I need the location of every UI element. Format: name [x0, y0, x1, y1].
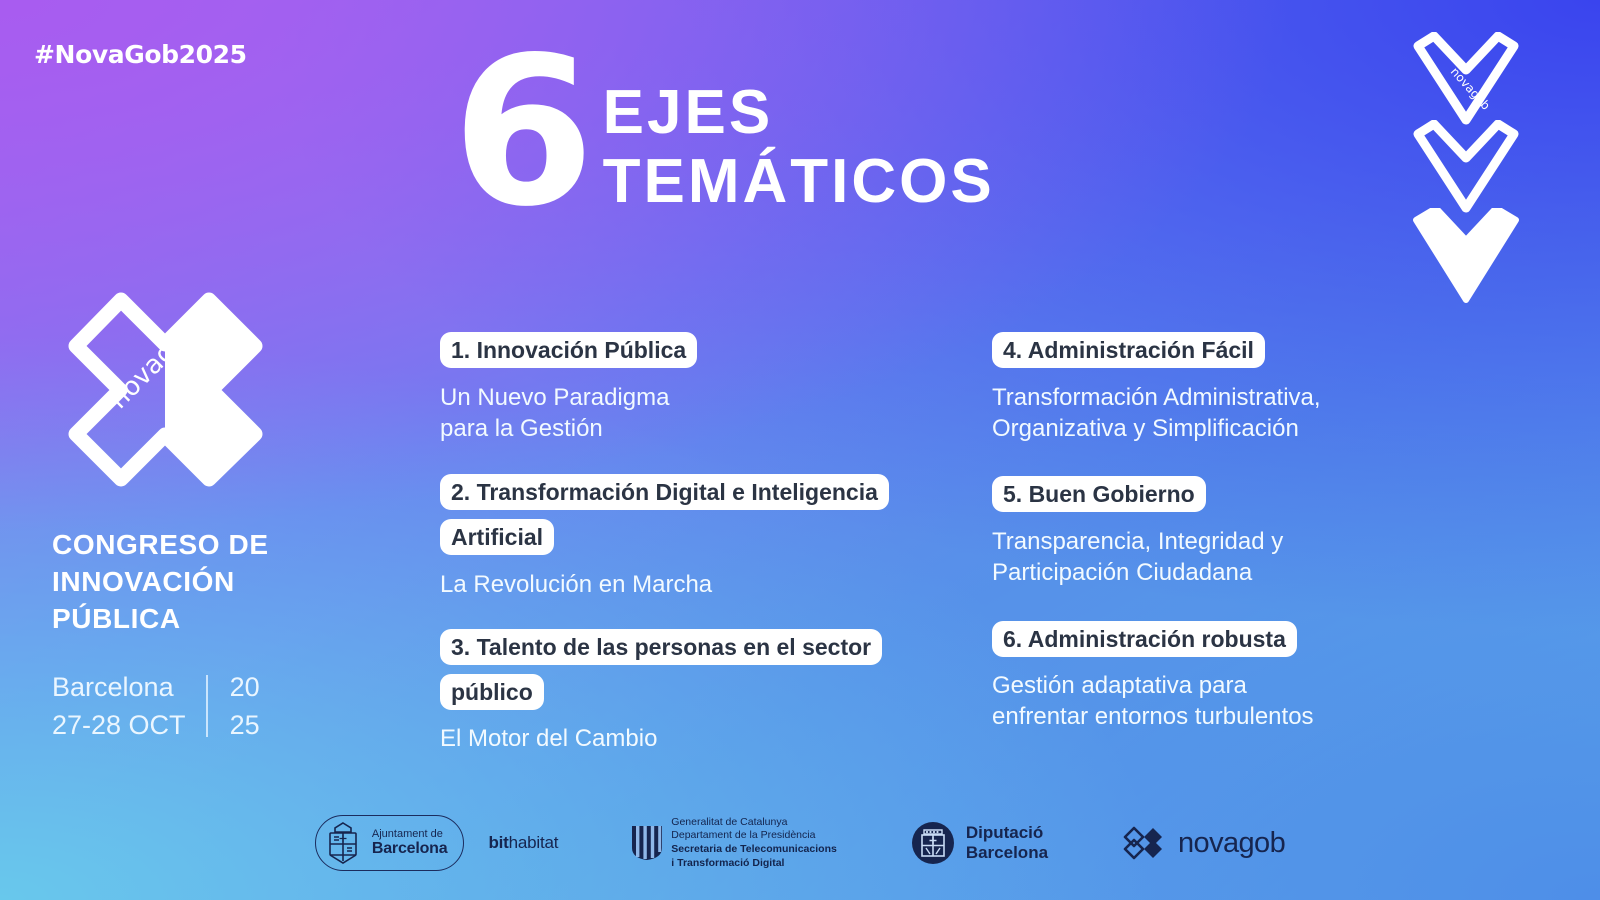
axis-title-5: 5. Buen Gobierno	[992, 476, 1206, 512]
axis-title-3: 3. Talento de las personas en el sector …	[440, 629, 882, 710]
axis-title-wrap-3: 3. Talento de las personas en el sector …	[440, 625, 910, 715]
congress-title-line-1: CONGRESO DE	[52, 527, 382, 564]
novagob-footer-wordmark: novagob	[1178, 827, 1285, 860]
logo-generalitat-catalunya: Generalitat de Catalunya Departament de …	[632, 816, 837, 871]
ajuntament-wordmark: Ajuntament de Barcelona	[372, 828, 448, 858]
event-year: 20 25	[230, 668, 260, 745]
event-location-dates: Barcelona 27-28 OCT	[52, 668, 186, 745]
axis-title-wrap-6: 6. Administración robusta	[992, 617, 1422, 662]
congress-title-line-2: INNOVACIÓN	[52, 564, 382, 601]
event-dates: 27-28 OCT	[52, 706, 186, 744]
novagob-mark-icon	[1122, 824, 1166, 862]
headline-words: EJES TEMÁTICOS	[603, 58, 995, 217]
axis-subtitle-3: El Motor del Cambio	[440, 724, 910, 755]
axis-subtitle-2: La Revolución en Marcha	[440, 570, 910, 601]
ajuntament-crest-icon	[324, 821, 362, 865]
axis-item-2: 2. Transformación Digital e Inteligencia…	[440, 470, 910, 600]
chevron-outline-with-label-icon: novagob	[1410, 32, 1530, 128]
thematic-axes-list: 1. Innovación Pública Un Nuevo Paradigma…	[440, 328, 1480, 781]
diputacio-wordmark: Diputació Barcelona	[966, 823, 1048, 862]
sponsor-logo-bar: Ajuntament de Barcelona bithabitat Gener…	[0, 808, 1600, 878]
bithabitat-bold-part: bit	[488, 833, 508, 852]
ajuntament-small-text: Ajuntament de	[372, 828, 443, 840]
axis-item-1: 1. Innovación Pública Un Nuevo Paradigma…	[440, 328, 910, 444]
axis-title-2: 2. Transformación Digital e Inteligencia…	[440, 474, 889, 555]
chevron-filled-icon	[1410, 208, 1530, 304]
axis-subtitle-6: Gestión adaptativa paraenfrentar entorno…	[992, 671, 1422, 732]
axis-subtitle-1: Un Nuevo Paradigmapara la Gestión	[440, 383, 910, 444]
headline-line-2: TEMÁTICOS	[603, 147, 995, 216]
axes-column-left: 1. Innovación Pública Un Nuevo Paradigma…	[440, 328, 910, 781]
logo-diputacio-barcelona: Diputació Barcelona	[911, 821, 1048, 865]
logo-ajuntament-barcelona: Ajuntament de Barcelona	[315, 815, 465, 871]
axis-item-4: 4. Administración Fácil Transformación A…	[992, 328, 1422, 444]
axis-title-4: 4. Administración Fácil	[992, 332, 1265, 368]
headline-block: 6 EJES TEMÁTICOS	[452, 58, 995, 217]
event-year-bottom: 25	[230, 706, 260, 744]
axis-title-wrap-4: 4. Administración Fácil	[992, 328, 1422, 373]
ajuntament-big-text: Barcelona	[372, 840, 448, 858]
axes-column-right: 4. Administración Fácil Transformación A…	[952, 328, 1422, 781]
diputacio-line-2: Barcelona	[966, 843, 1048, 863]
novagob-logo-icon: novagob	[58, 282, 273, 497]
diputacio-seal-icon	[911, 821, 955, 865]
logo-novagob-footer: novagob	[1122, 824, 1285, 862]
generalitat-line-2: Departament de la Presidència	[671, 829, 837, 843]
axis-item-5: 5. Buen Gobierno Transparencia, Integrid…	[992, 472, 1422, 588]
event-city: Barcelona	[52, 668, 186, 706]
axis-title-wrap-1: 1. Innovación Pública	[440, 328, 910, 373]
event-year-top: 20	[230, 668, 260, 706]
congress-title-line-3: PÚBLICA	[52, 601, 382, 638]
axis-title-wrap-5: 5. Buen Gobierno	[992, 472, 1422, 517]
chevron-outline-icon	[1410, 120, 1530, 216]
event-meta: Barcelona 27-28 OCT 20 25	[52, 668, 382, 745]
generalitat-line-4: i Transformació Digital	[671, 857, 837, 871]
congress-title: CONGRESO DE INNOVACIÓN PÚBLICA	[52, 527, 382, 638]
generalitat-line-1: Generalitat de Catalunya	[671, 816, 837, 830]
bithabitat-light-part: habitat	[509, 833, 559, 852]
chevron-decoration-group: novagob	[1410, 32, 1530, 296]
axis-subtitle-5: Transparencia, Integridad yParticipación…	[992, 527, 1422, 588]
diputacio-line-1: Diputació	[966, 823, 1048, 843]
axis-subtitle-4: Transformación Administrativa,Organizati…	[992, 383, 1422, 444]
generalitat-wordmark: Generalitat de Catalunya Departament de …	[671, 816, 837, 871]
brand-block: novagob CONGRESO DE INNOVACIÓN PÚBLICA B…	[52, 282, 382, 745]
axis-item-6: 6. Administración robusta Gestión adapta…	[992, 617, 1422, 733]
headline-number: 6	[452, 54, 587, 214]
event-hashtag: #NovaGob2025	[34, 40, 247, 69]
poster-canvas: #NovaGob2025 6 EJES TEMÁTICOS novagob	[0, 0, 1600, 900]
ajuntament-logo-frame: Ajuntament de Barcelona	[315, 815, 465, 871]
logo-bithabitat: bithabitat	[488, 833, 558, 853]
axis-title-1: 1. Innovación Pública	[440, 332, 697, 368]
axis-item-3: 3. Talento de las personas en el sector …	[440, 625, 910, 755]
axis-title-6: 6. Administración robusta	[992, 621, 1297, 657]
generalitat-senyera-icon	[632, 826, 662, 860]
headline-line-1: EJES	[603, 78, 995, 147]
generalitat-line-3: Secretaria de Telecomunicacions	[671, 843, 837, 857]
axis-title-wrap-2: 2. Transformación Digital e Inteligencia…	[440, 470, 910, 560]
meta-divider	[206, 675, 208, 737]
